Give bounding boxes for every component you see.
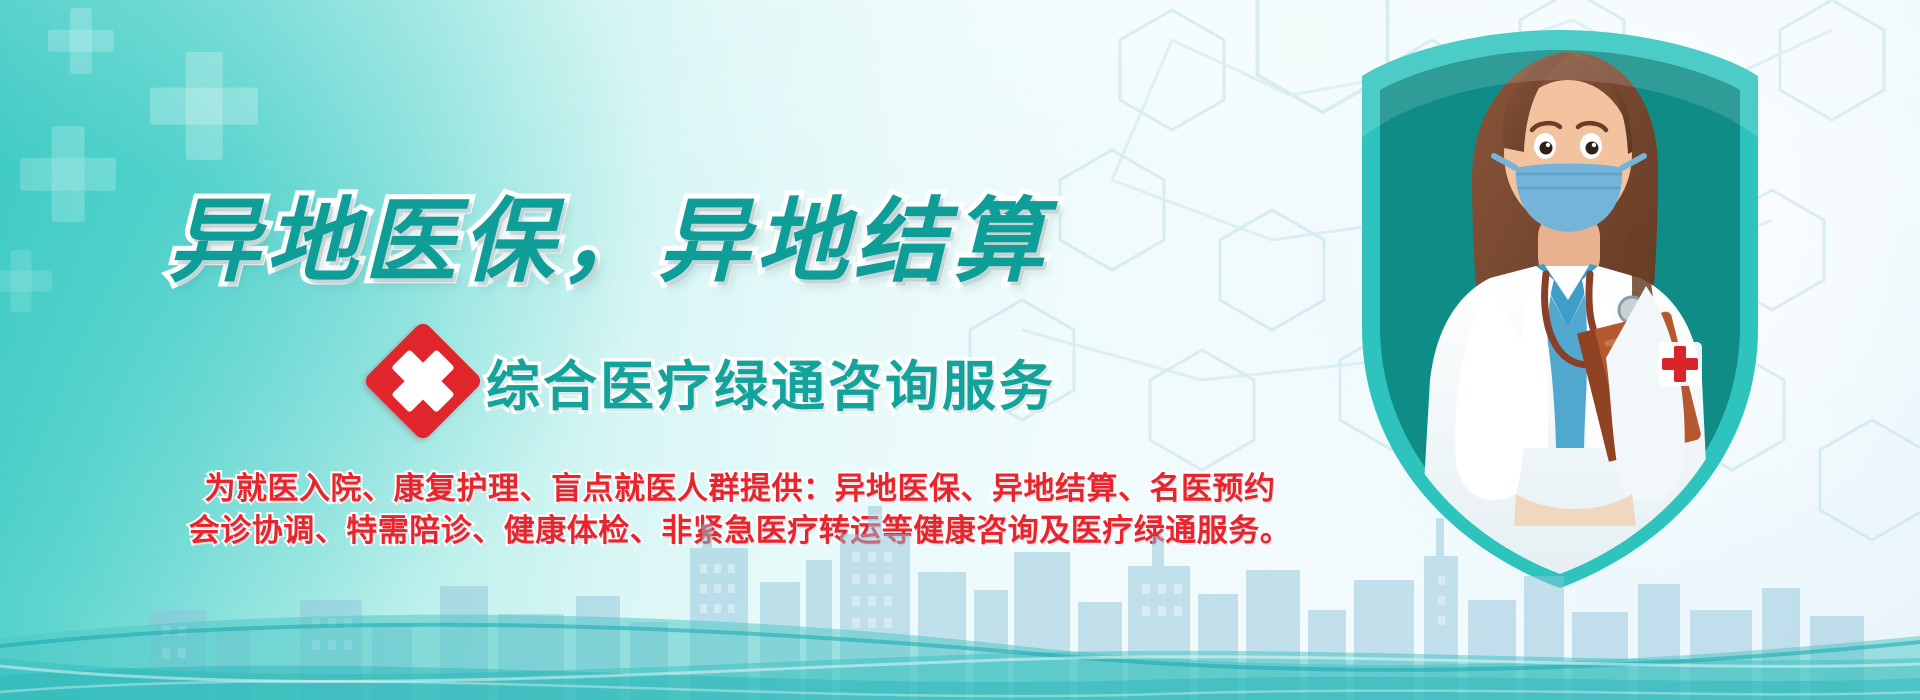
medical-service-banner: 异地医保，异地结算 综合医疗绿通咨询服务 为就医入院、康复护理、盲点就医人群提供… bbox=[0, 0, 1920, 700]
background-cross-icon-1 bbox=[48, 8, 114, 74]
subtitle: 综合医疗绿通咨询服务 bbox=[486, 342, 1056, 421]
subtitle-row: 综合医疗绿通咨询服务 bbox=[380, 338, 1056, 424]
red-medical-cross-icon bbox=[362, 320, 484, 442]
background-cross-icon-3 bbox=[20, 126, 116, 222]
eye-right bbox=[1586, 142, 1599, 155]
city-skyline-silhouette-icon bbox=[0, 460, 1920, 700]
background-cross-icon-4 bbox=[0, 250, 52, 312]
coat-red-cross-badge-icon bbox=[1658, 342, 1702, 386]
page-title: 异地医保，异地结算 bbox=[168, 196, 1050, 288]
eye-left bbox=[1540, 142, 1553, 155]
background-cross-icon-2 bbox=[150, 52, 258, 160]
